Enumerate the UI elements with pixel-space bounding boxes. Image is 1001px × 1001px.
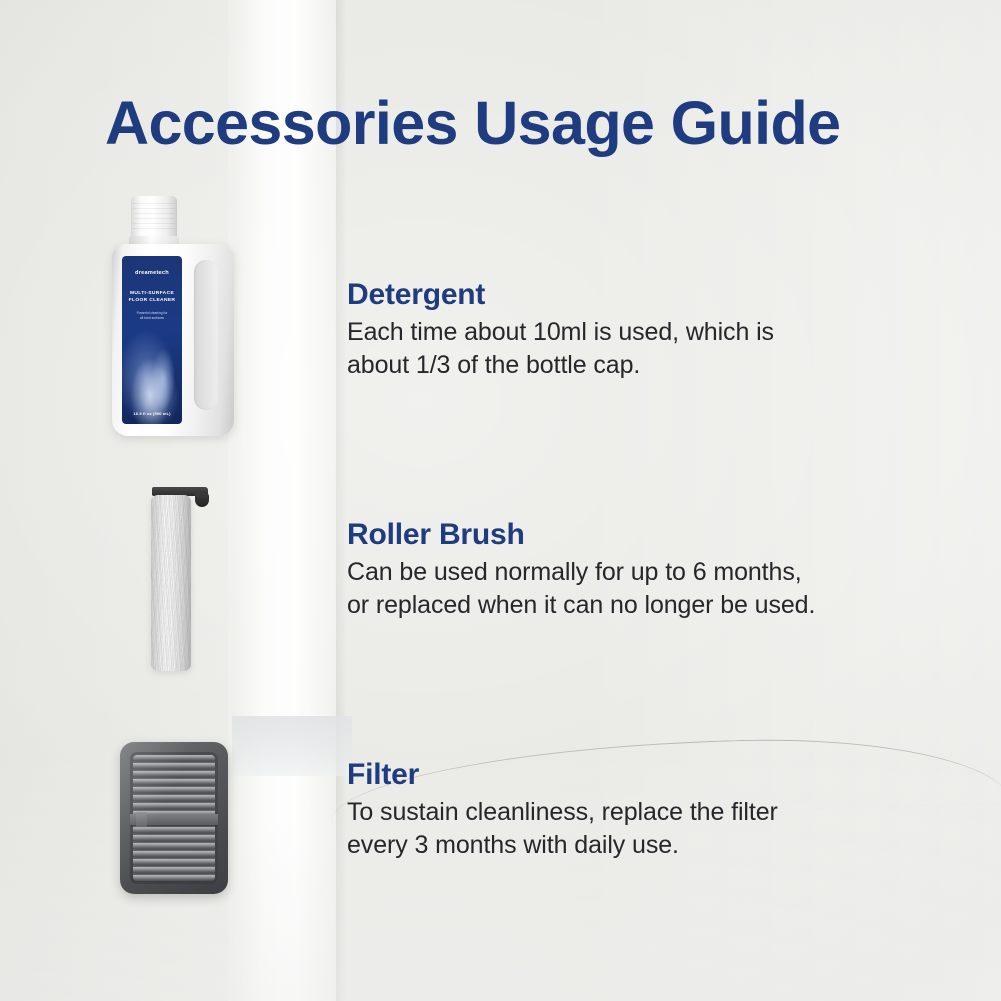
filter-center-bar-nub [136, 812, 147, 827]
bottle-cap [131, 196, 177, 240]
label-brand: dreametech [122, 270, 182, 276]
section-body-line: Each time about 10ml is used, which is [347, 316, 774, 349]
section-heading-filter: Filter [347, 758, 778, 792]
section-heading-roller-brush: Roller Brush [347, 518, 815, 552]
roller-brush-image [148, 487, 220, 671]
section-body-line: every 3 months with daily use. [347, 829, 778, 862]
label-tagline: Powerful cleaning for all hard surfaces [122, 311, 182, 321]
section-body-line: or replaced when it can no longer be use… [347, 589, 815, 622]
section-body-line: To sustain cleanliness, replace the filt… [347, 796, 778, 829]
label-tagline-line-2: all hard surfaces [122, 316, 182, 321]
bottle-body: dreametech MULTI-SURFACE FLOOR CLEANER P… [112, 244, 234, 436]
label-title-line-2: FLOOR CLEANER [122, 297, 182, 304]
bottle-grip [194, 260, 218, 410]
label-product-title: MULTI-SURFACE FLOOR CLEANER [122, 290, 182, 304]
filter-image [120, 742, 228, 894]
section-detergent: Detergent Each time about 10ml is used, … [347, 278, 774, 382]
section-body-line: Can be used normally for up to 6 months, [347, 556, 815, 589]
label-title-line-1: MULTI-SURFACE [122, 290, 182, 297]
section-heading-detergent: Detergent [347, 278, 774, 312]
infographic-page: Accessories Usage Guide dreametech MULTI… [0, 0, 1001, 1001]
section-filter: Filter To sustain cleanliness, replace t… [347, 758, 778, 862]
section-body-line: about 1/3 of the bottle cap. [347, 349, 774, 382]
bottle-label: dreametech MULTI-SURFACE FLOOR CLEANER P… [122, 256, 182, 424]
label-volume: 16.9 fl oz (500 mL) [122, 411, 182, 416]
page-title: Accessories Usage Guide [105, 88, 841, 158]
filter-inner [130, 752, 218, 884]
roller-brush-end-tab [195, 493, 209, 507]
roller-brush-shading [151, 495, 191, 671]
section-roller-brush: Roller Brush Can be used normally for up… [347, 518, 815, 622]
detergent-bottle-image: dreametech MULTI-SURFACE FLOOR CLEANER P… [112, 196, 234, 436]
